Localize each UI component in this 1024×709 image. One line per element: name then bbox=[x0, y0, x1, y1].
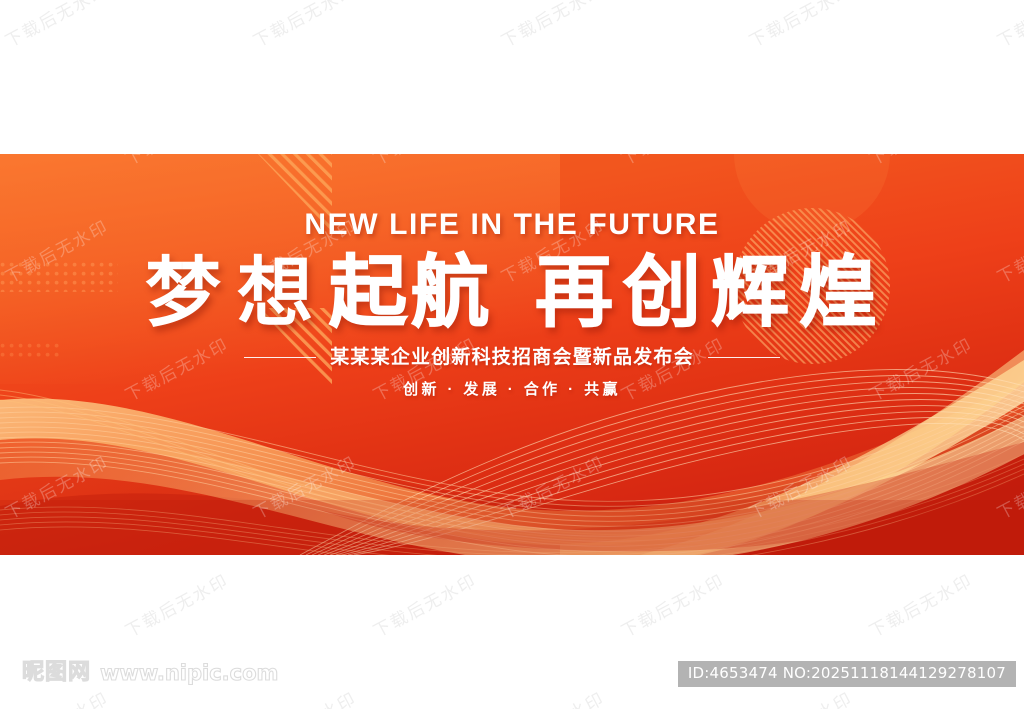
rule-left-line bbox=[244, 357, 316, 358]
logo-chinese-text: 昵图网 bbox=[22, 662, 91, 684]
watermark-text: 下载后无水印 bbox=[744, 0, 856, 52]
footer-bar: 昵图网 www.nipic.com ID:4653474 NO:20251118… bbox=[0, 660, 1024, 709]
headline-part-2: 起航 bbox=[329, 253, 493, 331]
banner-text-block: NEW LIFE IN THE FUTURE 梦想 起航 再创辉煌 某某某企业创… bbox=[0, 154, 1024, 555]
watermark-text: 下载后无水印 bbox=[992, 0, 1024, 52]
watermark-text: 下载后无水印 bbox=[616, 566, 728, 642]
headline-part-3: 再创辉煌 bbox=[535, 253, 887, 331]
tagline-text: 创新 · 发展 · 合作 · 共赢 bbox=[403, 382, 621, 397]
headline-part-1: 梦想 bbox=[137, 256, 329, 332]
watermark-text: 下载后无水印 bbox=[248, 0, 360, 52]
watermark-text: 下载后无水印 bbox=[864, 566, 976, 642]
watermark-text: 下载后无水印 bbox=[496, 0, 608, 52]
watermark-text: 下载后无水印 bbox=[0, 0, 112, 52]
watermark-text: 下载后无水印 bbox=[368, 566, 480, 642]
logo-url-text: www.nipic.com bbox=[100, 663, 278, 684]
subtitle-row: 某某某企业创新科技招商会暨新品发布会 bbox=[244, 348, 780, 367]
subtitle-text: 某某某企业创新科技招商会暨新品发布会 bbox=[330, 348, 694, 367]
watermark-text: 下载后无水印 bbox=[120, 566, 232, 642]
status-badge: ID:4653474 NO:20251118144129278107 bbox=[678, 661, 1016, 687]
banner-artwork: NEW LIFE IN THE FUTURE 梦想 起航 再创辉煌 某某某企业创… bbox=[0, 154, 1024, 555]
page-root: NEW LIFE IN THE FUTURE 梦想 起航 再创辉煌 某某某企业创… bbox=[0, 0, 1024, 709]
headline: 梦想 起航 再创辉煌 bbox=[137, 253, 887, 332]
eyebrow-text: NEW LIFE IN THE FUTURE bbox=[304, 210, 719, 240]
rule-right-line bbox=[708, 357, 780, 358]
site-logo[interactable]: 昵图网 www.nipic.com bbox=[22, 662, 278, 684]
